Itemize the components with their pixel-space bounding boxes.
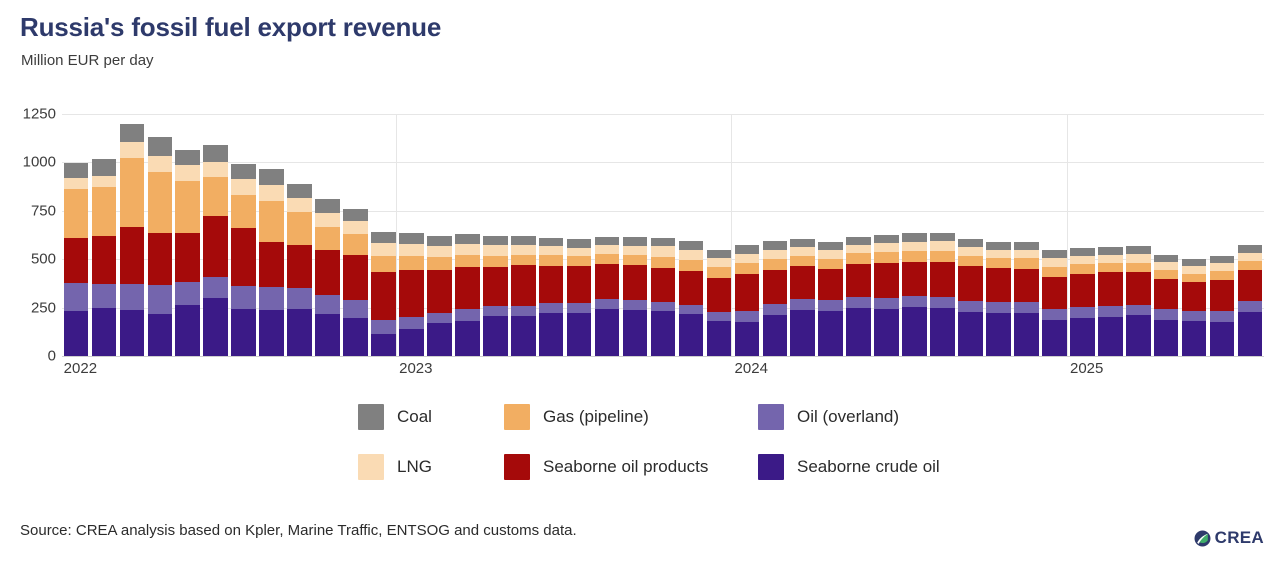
bar-segment [846, 264, 871, 297]
bar-segment [1098, 306, 1123, 317]
bar-segment [259, 185, 284, 201]
bar-segment [511, 245, 536, 255]
bar-segment [874, 298, 899, 309]
bar-segment [902, 262, 927, 296]
bar-segment [1042, 267, 1067, 277]
bar-segment [651, 246, 676, 256]
bar-segment [1098, 247, 1123, 255]
bar-segment [399, 256, 424, 271]
bar-segment [1042, 258, 1067, 267]
bar-segment [651, 238, 676, 247]
bar-segment [427, 313, 452, 323]
bar-segment [287, 245, 312, 288]
bar-segment [874, 235, 899, 243]
bar [679, 241, 704, 356]
bar-segment [539, 238, 564, 247]
bar-segment [511, 255, 536, 266]
bar-segment [315, 227, 340, 250]
bar-segment [763, 270, 788, 304]
bar-segment [1238, 253, 1263, 261]
bar-segment [175, 282, 200, 305]
bar-segment [790, 256, 815, 266]
legend-label: Coal [397, 407, 432, 427]
bar-segment [930, 241, 955, 250]
bar-segment [818, 269, 843, 300]
bar-segment [902, 242, 927, 251]
bar-segment [539, 255, 564, 265]
x-axis-tick: 2022 [64, 360, 97, 377]
bar-segment [92, 159, 117, 177]
bar-segment [651, 257, 676, 268]
legend-swatch [358, 454, 384, 480]
bar [874, 235, 899, 356]
bar-segment [483, 256, 508, 268]
legend-swatch [758, 404, 784, 430]
bar-segment [259, 242, 284, 287]
bar-segment [846, 308, 871, 356]
y-axis-tick: 0 [0, 348, 56, 365]
bar-segment [1182, 259, 1207, 266]
bar-segment [986, 250, 1011, 259]
bar-segment [930, 308, 955, 356]
bar-segment [287, 288, 312, 308]
bar-segment [539, 246, 564, 255]
bar-segment [623, 300, 648, 309]
bar-segment [567, 256, 592, 266]
bar-segment [623, 246, 648, 255]
bar-segment [1042, 277, 1067, 310]
bar-segment [679, 250, 704, 260]
x-axis-tick: 2023 [399, 360, 432, 377]
bar-segment [735, 254, 760, 264]
bar-segment [231, 228, 256, 286]
bar-segment [735, 274, 760, 310]
bar-segment [651, 302, 676, 311]
bar-segment [427, 323, 452, 356]
bar-segment [203, 277, 228, 298]
bar-segment [902, 307, 927, 356]
bar [735, 245, 760, 356]
legend-swatch [504, 454, 530, 480]
bar [315, 199, 340, 356]
bar-segment [1154, 262, 1179, 270]
bar-segment [1070, 307, 1095, 318]
bar-segment [287, 198, 312, 212]
bar-segment [567, 266, 592, 303]
bar-segment [846, 245, 871, 254]
bar-segment [259, 169, 284, 185]
bar [763, 241, 788, 356]
bar-segment [1098, 272, 1123, 306]
bar-segment [874, 263, 899, 298]
bar-segment [818, 242, 843, 250]
bar-segment [1154, 255, 1179, 262]
source-note: Source: CREA analysis based on Kpler, Ma… [20, 522, 577, 539]
bar-segment [1182, 282, 1207, 311]
bar-segment [175, 150, 200, 165]
bar-segment [148, 233, 173, 285]
bar-segment [287, 309, 312, 356]
bar-segment [120, 158, 145, 227]
bar-segment [623, 265, 648, 300]
bar-segment [315, 314, 340, 356]
bar-segment [735, 263, 760, 274]
bar-segment [427, 236, 452, 246]
bar-segment [902, 296, 927, 307]
bar-segment [203, 177, 228, 216]
bar-segment [315, 213, 340, 227]
bar-segment [1126, 305, 1151, 316]
bar-segment [958, 266, 983, 301]
bar [1126, 246, 1151, 356]
bar-segment [763, 315, 788, 356]
bar-segment [175, 181, 200, 233]
bar-segment [790, 299, 815, 309]
bar [1098, 247, 1123, 356]
bar-segment [874, 309, 899, 356]
bar-segment [371, 243, 396, 256]
bar [539, 238, 564, 356]
bar-segment [539, 303, 564, 313]
bar-segment [567, 303, 592, 313]
bar [902, 233, 927, 356]
bar-segment [315, 250, 340, 295]
bar-segment [763, 250, 788, 259]
y-axis-tick: 1250 [0, 106, 56, 123]
bar-segment [120, 227, 145, 285]
bar [1210, 256, 1235, 356]
bar-segment [1126, 254, 1151, 263]
bar-segment [763, 241, 788, 250]
bar-segment [595, 254, 620, 264]
bar-segment [64, 189, 89, 238]
bar-segment [1210, 311, 1235, 322]
bar [455, 234, 480, 356]
bar-segment [679, 241, 704, 250]
bar-segment [231, 286, 256, 309]
bar-segment [567, 239, 592, 248]
bar [175, 150, 200, 356]
bar [1014, 242, 1039, 356]
bar [1182, 259, 1207, 356]
bar-segment [930, 297, 955, 308]
bar-segment [1070, 256, 1095, 265]
bar-segment [707, 250, 732, 258]
legend-swatch [504, 404, 530, 430]
bar-segment [343, 300, 368, 317]
bar-segment [1070, 248, 1095, 256]
bar [287, 184, 312, 356]
bar-segment [1126, 246, 1151, 254]
bar-segment [735, 245, 760, 254]
bar-segment [790, 247, 815, 256]
bar-segment [1098, 317, 1123, 356]
bar-segment [427, 246, 452, 257]
bar-segment [1154, 309, 1179, 320]
bar-segment [92, 284, 117, 308]
bar-segment [1210, 271, 1235, 280]
bar-segment [1238, 261, 1263, 270]
bar [120, 124, 145, 356]
bar-segment [231, 179, 256, 194]
bar-segment [1042, 309, 1067, 320]
bar-segment [148, 172, 173, 232]
axis-baseline [62, 356, 1264, 357]
bar-segment [511, 236, 536, 245]
bar-segment [315, 199, 340, 213]
bar-segment [399, 329, 424, 356]
bar [818, 242, 843, 356]
bar-segment [958, 247, 983, 256]
bar-segment [651, 268, 676, 302]
bar [595, 237, 620, 356]
bar-segment [539, 266, 564, 304]
legend-item[interactable]: Seaborne crude oil [758, 454, 940, 480]
bar [259, 169, 284, 356]
bar-segment [1098, 255, 1123, 264]
bar-segment [1238, 312, 1263, 356]
bar-segment [790, 266, 815, 299]
legend-label: LNG [397, 457, 432, 477]
bar [203, 145, 228, 356]
bar-segment [259, 201, 284, 242]
bar-segment [1182, 274, 1207, 282]
bar-segment [511, 306, 536, 316]
legend-item[interactable]: Oil (overland) [758, 404, 899, 430]
bar-segment [483, 267, 508, 306]
bar-segment [763, 304, 788, 315]
crea-wordmark: CREA [1215, 528, 1264, 548]
y-axis-tick: 750 [0, 202, 56, 219]
bar-segment [958, 312, 983, 356]
bar-segment [483, 245, 508, 255]
crea-logo: CREA [1194, 527, 1264, 549]
bar [511, 236, 536, 356]
bar-segment [399, 244, 424, 256]
bar [371, 232, 396, 356]
bar-segment [203, 145, 228, 162]
bar-segment [707, 321, 732, 356]
bar [92, 159, 117, 356]
bar-segment [707, 258, 732, 268]
bar-segment [902, 251, 927, 262]
bar-segment [371, 232, 396, 243]
plot-canvas [62, 114, 1264, 356]
bar [707, 250, 732, 356]
bar [651, 238, 676, 356]
bar-segment [1238, 270, 1263, 301]
bar-segment [595, 264, 620, 299]
bar-segment [148, 314, 173, 356]
legend-item[interactable]: Gas (pipeline) [504, 404, 649, 430]
bar-segment [930, 233, 955, 242]
bar-segment [343, 234, 368, 255]
bar-segment [623, 255, 648, 265]
bar-segment [1070, 274, 1095, 307]
bar-segment [455, 244, 480, 255]
bar-segment [371, 256, 396, 272]
bars-layer [62, 114, 1264, 356]
bar-segment [958, 256, 983, 266]
legend-item[interactable]: Seaborne oil products [504, 454, 708, 480]
bar-segment [343, 255, 368, 300]
bar-segment [1154, 320, 1179, 356]
bar-segment [846, 237, 871, 245]
bar-segment [679, 271, 704, 305]
bar-segment [930, 262, 955, 297]
bar-segment [64, 238, 89, 283]
bar-segment [679, 260, 704, 271]
bar-segment [958, 239, 983, 247]
bar-segment [64, 311, 89, 356]
bar [231, 164, 256, 356]
legend-item[interactable]: Coal [358, 404, 432, 430]
legend-label: Oil (overland) [797, 407, 899, 427]
bar-segment [455, 267, 480, 309]
bar-segment [986, 258, 1011, 268]
bar-segment [595, 245, 620, 254]
bar-segment [427, 257, 452, 269]
bar-segment [651, 311, 676, 356]
bar-segment [1126, 263, 1151, 272]
bar-segment [343, 209, 368, 221]
bar [930, 233, 955, 356]
bar-segment [1042, 250, 1067, 258]
bar-segment [874, 243, 899, 252]
bar-segment [595, 237, 620, 246]
bar-segment [930, 251, 955, 262]
bar-segment [1014, 250, 1039, 259]
bar-segment [511, 316, 536, 356]
bar [1238, 245, 1263, 356]
bar-segment [735, 322, 760, 356]
bar-segment [958, 301, 983, 312]
bar-segment [1014, 269, 1039, 302]
bar [1154, 255, 1179, 356]
bar-segment [1210, 280, 1235, 311]
bar-segment [1154, 270, 1179, 279]
bar-segment [707, 278, 732, 312]
bar-segment [64, 283, 89, 311]
bar-segment [986, 242, 1011, 250]
bar-segment [399, 233, 424, 244]
bar [1070, 248, 1095, 356]
bar-segment [64, 163, 89, 178]
bar-segment [1238, 301, 1263, 312]
bar-segment [120, 124, 145, 142]
bar-segment [1098, 263, 1123, 272]
bar-segment [483, 306, 508, 316]
bar-segment [203, 216, 228, 278]
legend-label: Seaborne oil products [543, 457, 708, 477]
bar-segment [707, 267, 732, 278]
bar-segment [1182, 321, 1207, 356]
bar-segment [818, 259, 843, 269]
x-axis: 2022202320242025 [62, 358, 1264, 384]
bar-segment [1210, 256, 1235, 263]
bar-segment [874, 252, 899, 263]
bar-segment [679, 314, 704, 356]
y-axis-tick: 1000 [0, 154, 56, 171]
bar-segment [175, 165, 200, 181]
bar-segment [259, 287, 284, 310]
legend-item[interactable]: LNG [358, 454, 432, 480]
bar-segment [790, 310, 815, 356]
bar [1042, 250, 1067, 356]
legend-swatch [758, 454, 784, 480]
bar-segment [986, 313, 1011, 356]
bar-segment [203, 162, 228, 177]
y-axis: 025050075010001250 [0, 114, 56, 356]
bar-segment [567, 248, 592, 257]
bar-segment [148, 137, 173, 156]
bar-segment [1238, 245, 1263, 252]
bar-segment [343, 318, 368, 356]
bar-segment [120, 284, 145, 309]
bar-segment [455, 309, 480, 320]
legend-swatch [358, 404, 384, 430]
bar-segment [203, 298, 228, 356]
bar-segment [92, 308, 117, 356]
bar-segment [567, 313, 592, 356]
bar-segment [1126, 315, 1151, 356]
plot-area [62, 114, 1264, 356]
bar [399, 232, 424, 356]
bar-segment [287, 212, 312, 245]
bar-segment [595, 309, 620, 356]
bar-segment [1210, 322, 1235, 356]
bar-segment [763, 259, 788, 270]
bar-segment [259, 310, 284, 356]
bar-segment [986, 302, 1011, 313]
bar-segment [120, 142, 145, 158]
bar-segment [1070, 318, 1095, 356]
x-axis-tick: 2024 [735, 360, 768, 377]
bar-segment [483, 236, 508, 245]
bar-segment [343, 221, 368, 234]
bar [790, 239, 815, 356]
bar-segment [1014, 302, 1039, 313]
bar [958, 239, 983, 356]
legend-label: Seaborne crude oil [797, 457, 940, 477]
bar-segment [175, 233, 200, 282]
legend-label: Gas (pipeline) [543, 407, 649, 427]
bar-segment [148, 285, 173, 314]
bar [343, 209, 368, 356]
bar-segment [399, 317, 424, 329]
bar-segment [986, 268, 1011, 302]
bar-segment [902, 233, 927, 242]
bar-segment [455, 234, 480, 244]
bar-segment [511, 265, 536, 306]
bar-segment [287, 184, 312, 198]
bar-segment [92, 236, 117, 284]
bar-segment [595, 299, 620, 308]
chart-legend: CoalGas (pipeline)Oil (overland)LNGSeabo… [358, 404, 1008, 488]
bar [148, 137, 173, 356]
bar [986, 242, 1011, 356]
bar-segment [92, 176, 117, 186]
bar-segment [1210, 263, 1235, 271]
bar-segment [64, 178, 89, 189]
x-axis-tick: 2025 [1070, 360, 1103, 377]
bar-segment [1014, 313, 1039, 356]
bar-segment [539, 313, 564, 356]
bar-segment [1126, 272, 1151, 305]
bar-segment [399, 270, 424, 316]
bar-segment [1182, 266, 1207, 274]
bar-segment [231, 309, 256, 356]
